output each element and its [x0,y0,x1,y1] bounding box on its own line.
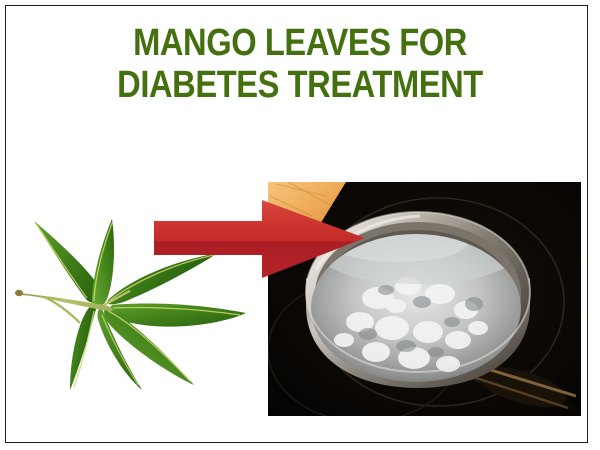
slide-canvas: MANGO LEAVES FOR DIABETES TREATMENT [0,0,600,450]
page-title: MANGO LEAVES FOR DIABETES TREATMENT [0,22,600,106]
title-line-1: MANGO LEAVES FOR [42,22,558,64]
arrow-shape [154,200,365,278]
red-right-arrow [150,198,370,280]
title-line-2: DIABETES TREATMENT [42,64,558,106]
